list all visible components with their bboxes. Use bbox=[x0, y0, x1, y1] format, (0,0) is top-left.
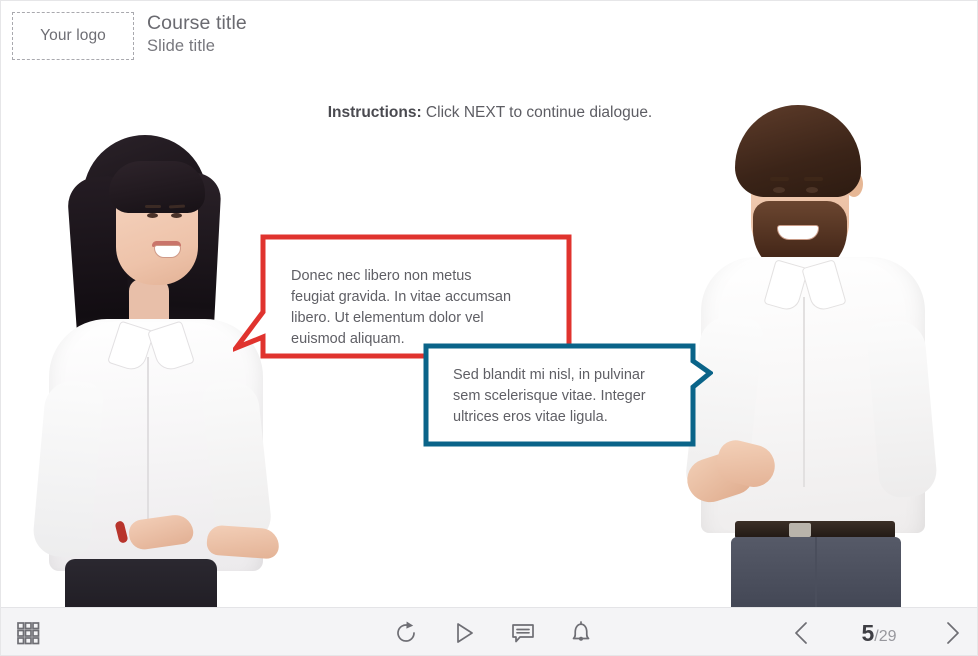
play-button[interactable] bbox=[443, 608, 485, 656]
man-presenter bbox=[673, 97, 959, 607]
next-slide-button[interactable] bbox=[931, 608, 973, 656]
logo-placeholder-label: Your logo bbox=[40, 27, 106, 45]
slide-title: Slide title bbox=[147, 35, 247, 57]
notification-button[interactable] bbox=[560, 608, 602, 656]
man-belt-buckle bbox=[789, 523, 811, 537]
next-slide-icon bbox=[938, 619, 966, 647]
grid-menu-button[interactable] bbox=[5, 608, 51, 656]
speech-bubble-right-text: Sed blandit mi nisl, in pulvinar sem sce… bbox=[453, 365, 701, 428]
woman-hand-right bbox=[206, 525, 280, 560]
slide-stage: Donec nec libero non metus feugiat gravi… bbox=[1, 79, 978, 607]
man-eyebrow-right bbox=[804, 177, 823, 181]
course-title: Course title bbox=[147, 11, 247, 35]
man-hair bbox=[735, 105, 861, 197]
replay-button[interactable] bbox=[385, 608, 427, 656]
logo-placeholder[interactable]: Your logo bbox=[12, 12, 134, 60]
speech-bubble-left-text: Donec nec libero non metus feugiat gravi… bbox=[291, 266, 559, 350]
play-icon bbox=[451, 620, 477, 646]
woman-eye-left bbox=[147, 213, 158, 218]
transcript-icon bbox=[510, 620, 536, 646]
man-eye-left bbox=[773, 187, 785, 193]
elearning-slide: Your logo Course title Slide title Instr… bbox=[0, 0, 978, 656]
woman-eye-right bbox=[171, 213, 182, 218]
man-eyebrow-left bbox=[770, 177, 789, 181]
transcript-button[interactable] bbox=[502, 608, 544, 656]
speech-bubble-left: Donec nec libero non metus feugiat gravi… bbox=[233, 234, 573, 359]
speech-bubble-right: Sed blandit mi nisl, in pulvinar sem sce… bbox=[423, 343, 713, 447]
slide-header: Your logo Course title Slide title bbox=[1, 1, 978, 79]
man-smile bbox=[777, 225, 819, 240]
man-shirt-placket bbox=[803, 297, 805, 487]
woman-presenter bbox=[21, 129, 293, 607]
page-indicator: 5/29 bbox=[833, 608, 925, 656]
man-eye-right bbox=[806, 187, 818, 193]
title-block: Course title Slide title bbox=[147, 11, 247, 57]
page-current: 5 bbox=[861, 620, 874, 647]
page-total: /29 bbox=[874, 628, 896, 646]
previous-slide-icon bbox=[788, 619, 816, 647]
previous-slide-button[interactable] bbox=[781, 608, 823, 656]
woman-eyebrow-left bbox=[145, 205, 161, 208]
replay-icon bbox=[393, 620, 419, 646]
player-toolbar: 5/29 bbox=[1, 607, 978, 656]
notification-icon bbox=[568, 620, 594, 646]
woman-blouse-placket bbox=[147, 357, 149, 527]
grid-menu-icon bbox=[15, 620, 41, 646]
